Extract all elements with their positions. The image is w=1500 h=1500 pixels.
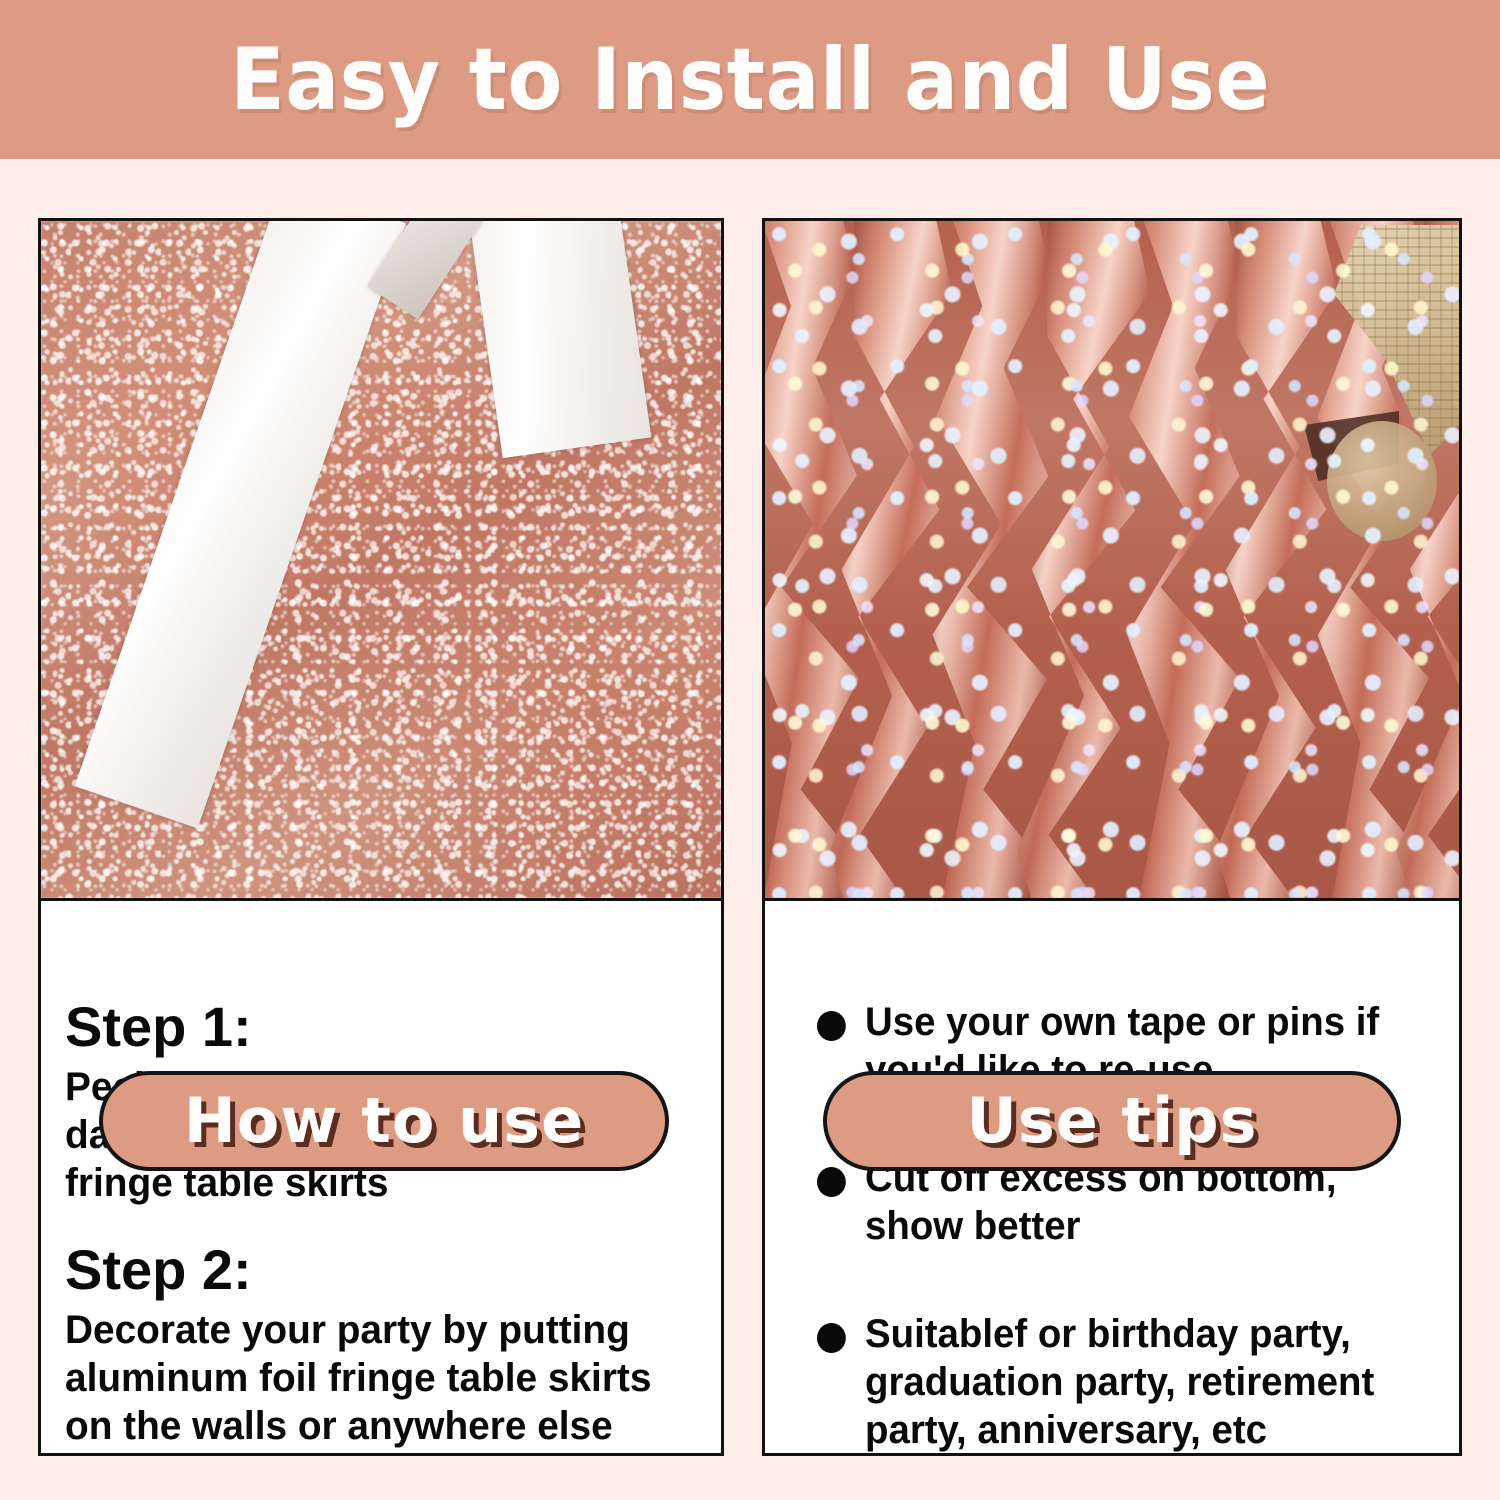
step-2-body: Decorate your party by putting aluminum …	[65, 1306, 678, 1456]
how-to-use-badge: How to use	[99, 1071, 669, 1171]
use-tips-list: Use your own tape or pins if you'd like …	[789, 998, 1435, 1454]
tip-text: Suitablef or birthday party, graduation …	[865, 1312, 1374, 1452]
how-to-use-photo	[41, 221, 721, 901]
basket-ball	[1327, 421, 1437, 541]
use-tips-photo	[765, 221, 1459, 901]
step-1-heading: Step 1:	[65, 998, 697, 1057]
header-banner: Easy to Install and Use	[0, 0, 1500, 159]
how-to-use-badge-label: How to use	[184, 1090, 584, 1152]
use-tips-badge-label: Use tips	[966, 1090, 1257, 1152]
fringe-strand	[1013, 221, 1158, 898]
bullet-icon	[817, 1167, 846, 1197]
step-2-block: Step 2: Decorate your party by putting a…	[65, 1241, 697, 1456]
use-tips-text-area: Use your own tape or pins if you'd like …	[765, 904, 1459, 1453]
page-title: Easy to Install and Use	[230, 37, 1270, 123]
fringe-strand	[1214, 221, 1344, 898]
bullet-icon	[817, 1011, 846, 1041]
fringe-strand	[827, 221, 959, 898]
use-tips-panel: Use tips Use your own tape or pins if yo…	[762, 218, 1462, 1456]
how-to-use-panel: How to use Step 1: Peel off the double-s…	[38, 218, 724, 1456]
step-2-heading: Step 2:	[65, 1241, 697, 1300]
list-item: Suitablef or birthday party, graduation …	[817, 1310, 1397, 1454]
foil-fringe-texture	[765, 221, 1459, 898]
use-tips-badge: Use tips	[823, 1071, 1401, 1171]
how-to-use-text-area: Step 1: Peel off the double-side dadhesi…	[41, 904, 721, 1453]
bullet-icon	[817, 1323, 846, 1353]
infographic-page: Easy to Install and Use How to use Step …	[0, 0, 1500, 1500]
